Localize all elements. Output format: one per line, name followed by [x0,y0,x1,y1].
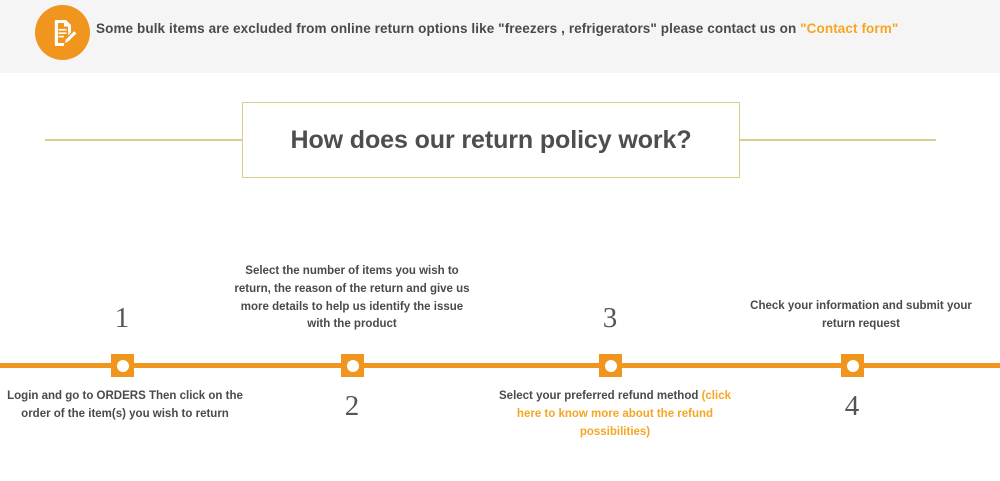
step-number-1: 1 [62,302,182,335]
step-text-2-body: Select the number of items you wish to r… [234,265,469,330]
marker-dot-icon [847,360,859,372]
heading-rule-right [740,139,936,141]
timeline-marker-2[interactable] [341,354,364,377]
step-text-1-body: Login and go to ORDERS Then click on the… [7,390,243,420]
heading-rule-left [45,139,244,141]
step-text-1: Login and go to ORDERS Then click on the… [2,388,248,424]
timeline-marker-1[interactable] [111,354,134,377]
marker-dot-icon [347,360,359,372]
step-text-3-body: Select your preferred refund method [499,390,702,402]
step-text-2: Select the number of items you wish to r… [232,263,472,334]
timeline-marker-3[interactable] [599,354,622,377]
notice-banner: Some bulk items are excluded from online… [0,0,1000,73]
document-pencil-icon [35,5,90,60]
step-text-4: Check your information and submit your r… [738,298,984,334]
timeline-marker-4[interactable] [841,354,864,377]
step-number-2: 2 [292,390,412,423]
heading-box: How does our return policy work? [242,102,740,178]
steps-timeline: 1 Login and go to ORDERS Then click on t… [0,200,1000,481]
notice-text-body: Some bulk items are excluded from online… [96,21,800,36]
step-number-3: 3 [550,302,670,335]
contact-form-link[interactable]: "Contact form" [800,21,898,36]
page-title: How does our return policy work? [290,126,691,155]
step-text-3: Select your preferred refund method (cli… [492,388,738,441]
notice-banner-text: Some bulk items are excluded from online… [96,21,898,36]
section-heading: How does our return policy work? [0,100,1000,182]
marker-dot-icon [117,360,129,372]
return-policy-page: Some bulk items are excluded from online… [0,0,1000,481]
step-number-4: 4 [792,390,912,423]
step-text-4-body: Check your information and submit your r… [750,300,972,330]
marker-dot-icon [605,360,617,372]
